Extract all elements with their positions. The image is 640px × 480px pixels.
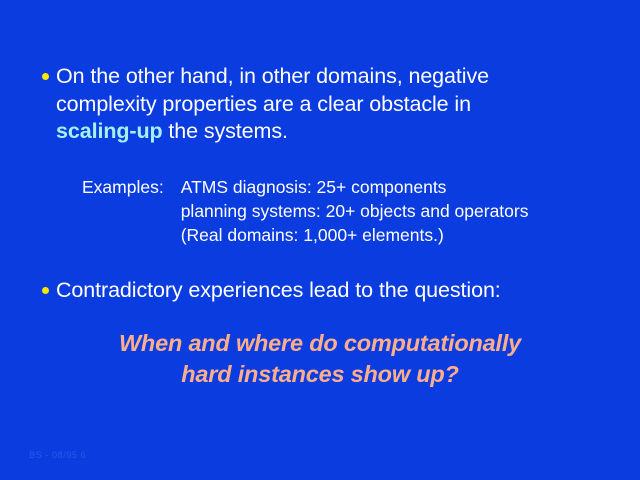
bullet-item-1: On the other hand, in other domains, neg… <box>42 63 602 146</box>
emphasis-question: When and where do computationally hard i… <box>0 328 640 390</box>
bullet-item-2-text: Contradictory experiences lead to the qu… <box>56 277 501 305</box>
bullet-item-2: Contradictory experiences lead to the qu… <box>42 277 612 305</box>
example-item: ATMS diagnosis: 25+ components <box>181 175 529 199</box>
slide-canvas: On the other hand, in other domains, neg… <box>0 0 640 480</box>
bullet-1-part-2: the systems. <box>163 119 288 143</box>
bullet-item-1-text: On the other hand, in other domains, neg… <box>56 63 489 146</box>
emphasis-question-line-1: When and where do computationally <box>0 328 640 359</box>
examples-label: Examples: <box>82 175 164 199</box>
example-item: planning systems: 20+ objects and operat… <box>181 199 529 223</box>
slide-footer: BS - 08/95 6 <box>29 450 86 460</box>
emphasis-question-line-2: hard instances show up? <box>0 359 640 390</box>
bullet-dot-icon <box>42 73 49 80</box>
bullet-1-highlight-scaling-up: scaling-up <box>56 119 163 143</box>
bullet-dot-icon <box>42 287 49 294</box>
example-item: (Real domains: 1,000+ elements.) <box>181 223 529 247</box>
examples-block: Examples: ATMS diagnosis: 25+ components… <box>82 175 528 247</box>
bullet-1-part-1: On the other hand, in other domains, neg… <box>56 64 489 116</box>
examples-list: ATMS diagnosis: 25+ components planning … <box>181 175 529 247</box>
